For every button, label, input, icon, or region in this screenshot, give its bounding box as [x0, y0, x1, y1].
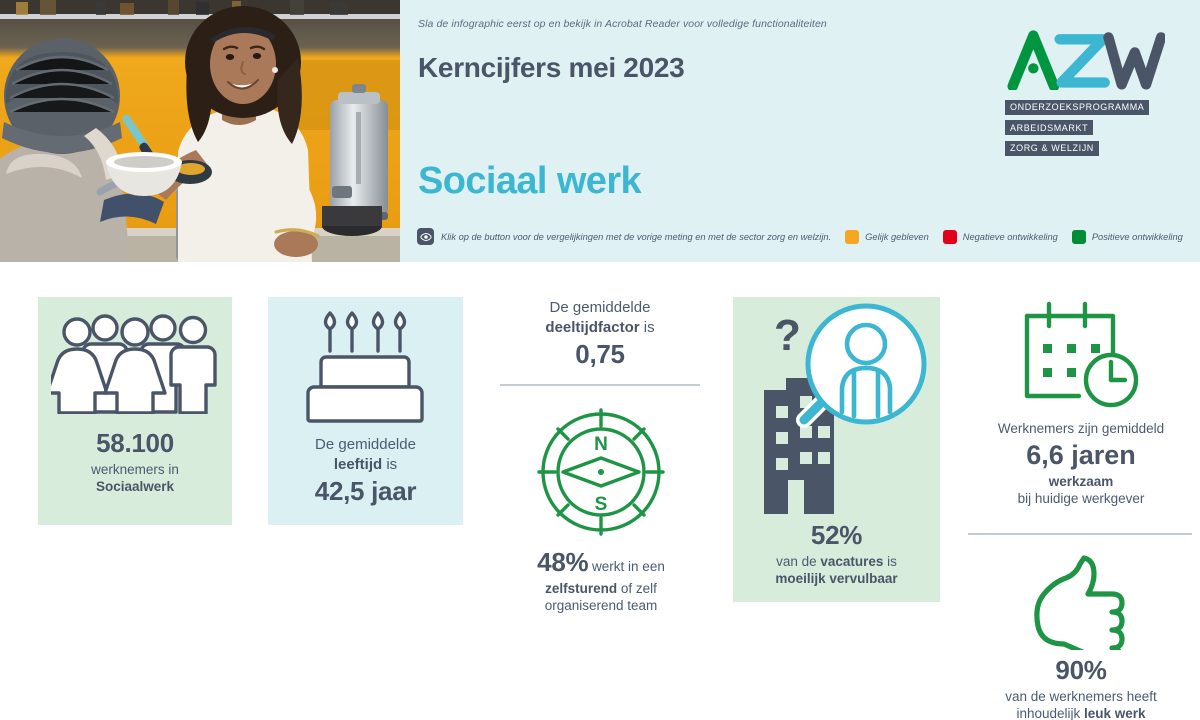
card-employees: 58.100 werknemers in Sociaalwerk: [38, 297, 232, 525]
vacancies-value: 52%: [733, 519, 940, 553]
average-age-label-tail: is: [382, 456, 397, 473]
card-vacancies: ?: [733, 297, 940, 602]
header-note: Sla de infographic eerst op en bekijk in…: [418, 18, 958, 30]
employees-line1: werknemers in: [38, 461, 232, 479]
header: Sla de infographic eerst op en bekijk in…: [0, 0, 1200, 262]
legend-label-negative: Negatieve ontwikkeling: [963, 232, 1058, 242]
card-average-age: De gemiddelde leeftijd is 42,5 jaar: [268, 297, 463, 525]
vacancies-line2: moeilijk vervulbaar: [733, 570, 940, 588]
legend-label-neutral: Gelijk gebleven: [865, 232, 929, 242]
self-managing-tail2: of zelf: [617, 581, 657, 596]
stat-tenure: Werknemers zijn gemiddeld 6,6 jaren werk…: [962, 292, 1200, 508]
vacancies-line1-post: is: [883, 554, 897, 569]
logo-tag-1: ARBEIDSMARKT: [1005, 120, 1093, 135]
logo-tags: ONDERZOEKSPROGRAMMA ARBEIDSMARKT ZORG & …: [1005, 97, 1175, 159]
compass-south-label: S: [595, 494, 608, 515]
body: 58.100 werknemers in Sociaalwerk: [0, 262, 1200, 720]
tenure-line2: werkzaam: [962, 473, 1200, 491]
group-of-people-icon: [38, 297, 232, 427]
legend-label-positive: Positieve ontwikkeling: [1092, 232, 1183, 242]
satisfaction-value: 90%: [962, 654, 1200, 688]
parttime-value: 0,75: [490, 338, 710, 372]
building-with-magnifier-icon: ?: [733, 297, 940, 519]
average-age-stat: De gemiddelde leeftijd is 42,5 jaar: [268, 435, 463, 509]
compass-north-label: N: [594, 434, 608, 455]
satisfaction-stat: 90% van de werknemers heeft inhoudelijk …: [962, 654, 1200, 720]
stat-parttime-factor: De gemiddelde deeltijdfactor is 0,75: [490, 298, 710, 372]
employees-line2: Sociaalwerk: [38, 478, 232, 496]
employees-stat: 58.100 werknemers in Sociaalwerk: [38, 427, 232, 496]
employees-value: 58.100: [38, 427, 232, 461]
self-managing-line2: zelfsturend of zelf: [490, 580, 712, 598]
tenure-line1: Werknemers zijn gemiddeld: [962, 420, 1200, 438]
birthday-cake-icon: [268, 297, 463, 435]
legend-instruction: Klik op de button voor de vergelijkingen…: [441, 232, 831, 242]
vacancies-line1-bold: vacatures: [820, 554, 883, 569]
thumbs-up-icon: [962, 550, 1200, 652]
satisfaction-line2-pre: inhoudelijk: [1016, 706, 1084, 720]
azw-logo: ONDERZOEKSPROGRAMMA ARBEIDSMARKT ZORG & …: [1005, 28, 1175, 159]
legend: Klik op de button voor de vergelijkingen…: [417, 228, 1183, 245]
average-age-label: leeftijd is: [268, 455, 463, 475]
vacancies-line1: van de vacatures is: [733, 553, 940, 571]
average-age-label-bold: leeftijd: [334, 456, 382, 473]
self-managing-tail1: werkt in een: [588, 559, 665, 574]
average-age-value: 42,5 jaar: [268, 475, 463, 509]
sector-title: Sociaal werk: [418, 160, 641, 203]
self-managing-line1: 48% werkt in een: [490, 546, 712, 580]
self-managing-line3: organiserend team: [490, 597, 712, 615]
page-title: Kerncijfers mei 2023: [418, 52, 684, 84]
calendar-clock-icon: [962, 292, 1200, 420]
tenure-stat: Werknemers zijn gemiddeld 6,6 jaren werk…: [962, 420, 1200, 508]
question-mark-glyph: ?: [774, 311, 801, 360]
self-managing-stat: 48% werkt in een zelfsturend of zelf org…: [490, 546, 712, 615]
eye-icon[interactable]: [417, 228, 434, 245]
self-managing-bold2: zelfsturend: [545, 581, 617, 596]
stat-satisfaction: 90% van de werknemers heeft inhoudelijk …: [962, 550, 1200, 720]
divider-tenure: [968, 533, 1192, 535]
legend-swatch-negative: [943, 230, 957, 244]
satisfaction-line2: inhoudelijk leuk werk: [962, 705, 1200, 720]
parttime-label: deeltijdfactor is: [490, 318, 710, 338]
parttime-label-bold: deeltijdfactor: [545, 319, 639, 336]
vacancies-line1-pre: van de: [776, 554, 820, 569]
stat-self-managing: N S 48% werkt in een zelfsturend of zelf…: [490, 402, 712, 615]
satisfaction-line2-bold: leuk werk: [1084, 706, 1146, 720]
logo-tag-0: ONDERZOEKSPROGRAMMA: [1005, 100, 1149, 115]
infographic-page: Sla de infographic eerst op en bekijk in…: [0, 0, 1200, 720]
logo-tag-2: ZORG & WELZIJN: [1005, 141, 1099, 156]
tenure-value: 6,6 jaren: [962, 438, 1200, 473]
self-managing-value: 48%: [537, 547, 588, 577]
legend-swatch-neutral: [845, 230, 859, 244]
parttime-line1: De gemiddelde: [490, 298, 710, 318]
parttime-label-tail: is: [640, 319, 655, 336]
divider-parttime: [500, 384, 700, 386]
average-age-line1: De gemiddelde: [268, 435, 463, 455]
vacancies-stat: 52% van de vacatures is moeilijk vervulb…: [733, 519, 940, 588]
legend-swatch-positive: [1072, 230, 1086, 244]
tenure-line3: bij huidige werkgever: [962, 490, 1200, 508]
header-photo: [0, 0, 400, 262]
compass-icon: N S: [490, 402, 712, 542]
satisfaction-line1: van de werknemers heeft: [962, 688, 1200, 706]
